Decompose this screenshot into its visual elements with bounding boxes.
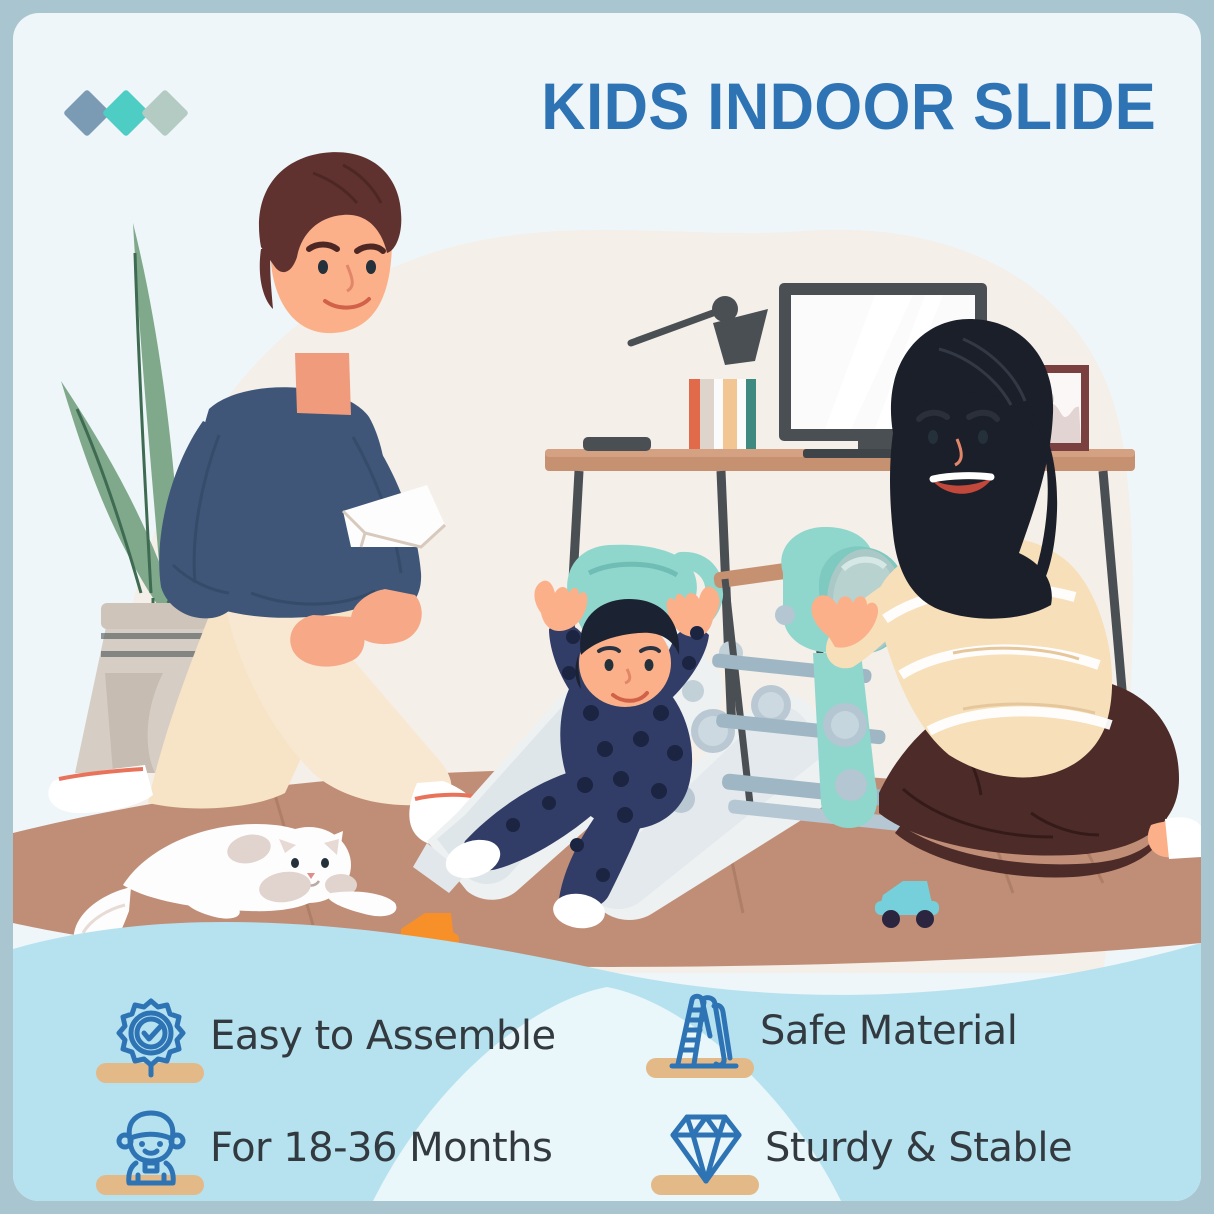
feature-label: For 18-36 Months — [210, 1125, 552, 1171]
product-infographic-poster: KIDS INDOOR SLIDE Easy to Assemble — [0, 0, 1214, 1214]
feature-sturdy-stable: Sturdy & Stable — [663, 1105, 1072, 1191]
books — [689, 379, 756, 449]
illustration-scene — [13, 13, 1201, 973]
child-face-icon — [108, 1105, 194, 1191]
diamond-logo — [70, 90, 210, 136]
feature-safe-material: Safe Material — [658, 988, 1017, 1074]
feature-label: Sturdy & Stable — [765, 1125, 1072, 1171]
feature-easy-to-assemble: Easy to Assemble — [108, 993, 556, 1079]
desk-object — [583, 437, 651, 451]
page-title: KIDS INDOOR SLIDE — [541, 68, 1156, 144]
poster-inner-panel: KIDS INDOOR SLIDE Easy to Assemble — [13, 13, 1201, 1201]
diamond-3-icon — [141, 89, 189, 137]
feature-label: Safe Material — [760, 1008, 1017, 1054]
gear-check-icon — [108, 993, 194, 1079]
feature-label: Easy to Assemble — [210, 1013, 556, 1059]
scene-svg — [13, 13, 1201, 973]
slide-ladder-icon — [658, 988, 744, 1074]
feature-age-range: For 18-36 Months — [108, 1105, 552, 1191]
diamond-gem-icon — [663, 1105, 749, 1191]
